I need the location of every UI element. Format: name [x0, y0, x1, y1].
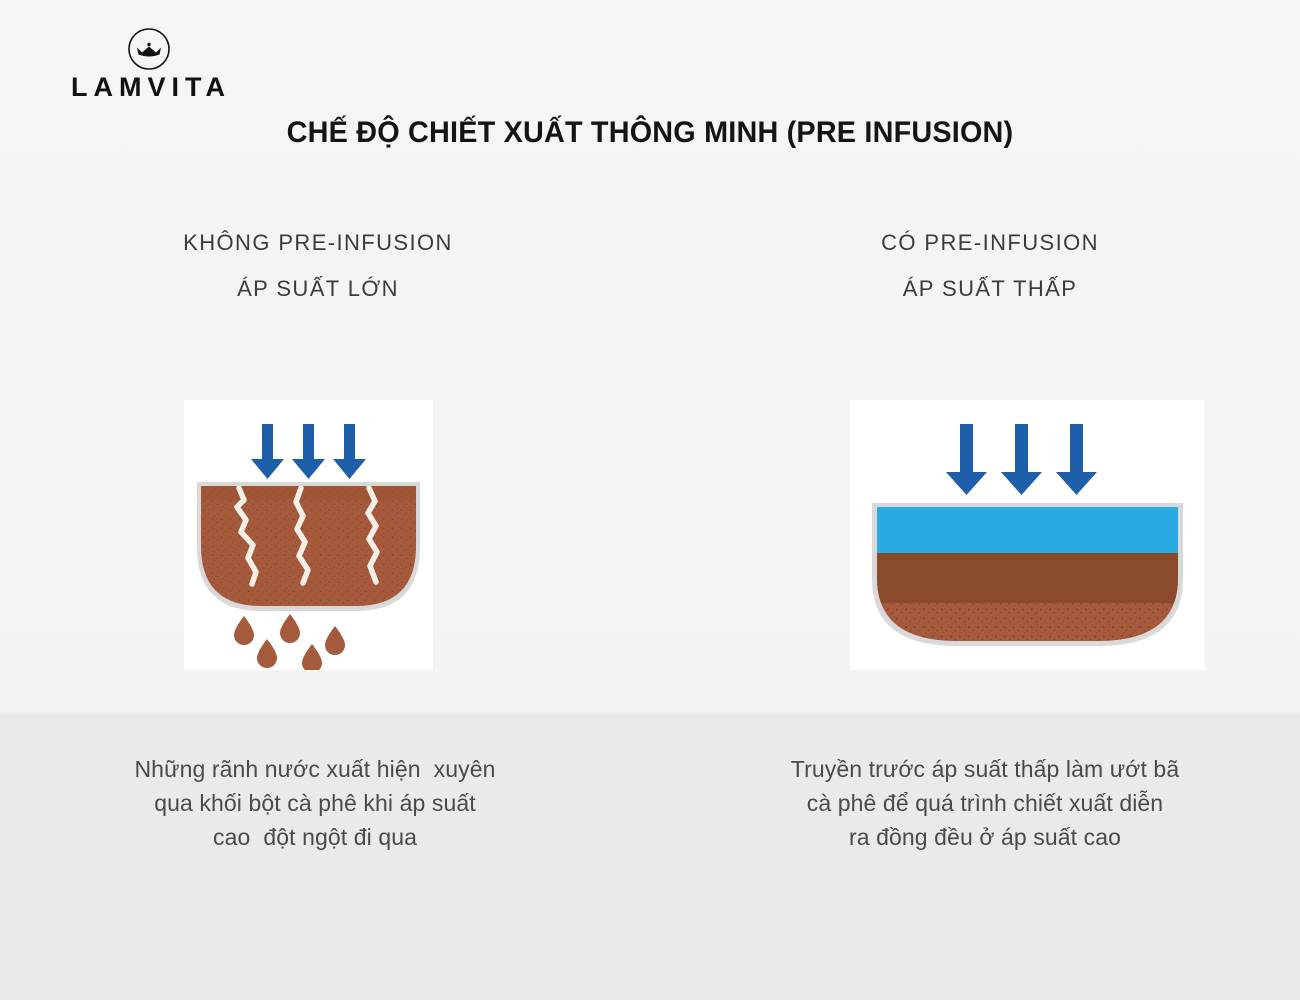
page-title: CHẾ ĐỘ CHIẾT XUẤT THÔNG MINH (PRE INFUSI…: [26, 116, 1274, 150]
caption-with-pre-infusion: Truyền trước áp suất thấp làm ướt bã cà …: [705, 752, 1265, 854]
caption-line2: cà phê để quá trình chiết xuất diễn: [705, 786, 1265, 820]
heading-no-pre-infusion: KHÔNG PRE-INFUSION ÁP SUẤT LỚN: [38, 232, 598, 300]
caption-no-pre-infusion: Những rãnh nước xuất hiện xuyên qua khối…: [35, 752, 595, 854]
caption-line2: qua khối bột cà phê khi áp suất: [35, 786, 595, 820]
column-with-pre-infusion: CÓ PRE-INFUSION ÁP SUẤT THẤP: [710, 232, 1270, 300]
coffee-bed: [201, 486, 416, 606]
crown-in-circle-icon: [126, 26, 172, 72]
heading-with-pre-infusion: CÓ PRE-INFUSION ÁP SUẤT THẤP: [710, 232, 1270, 300]
illustration-card-with-pre-infusion: [850, 400, 1205, 670]
water-layer: [877, 507, 1178, 553]
brand-logo: LAMVITA: [64, 26, 234, 101]
channeling-portafilter-illustration: [184, 400, 433, 670]
infographic-page: LAMVITA CHẾ ĐỘ CHIẾT XUẤT THÔNG MINH (PR…: [0, 0, 1300, 1000]
caption-line3: cao đột ngột đi qua: [35, 820, 595, 854]
heading-line2: ÁP SUẤT LỚN: [38, 278, 598, 300]
even-saturation-portafilter-illustration: [850, 400, 1205, 670]
down-arrow-icon: [946, 424, 1097, 495]
illustration-card-no-pre-infusion: [184, 400, 433, 670]
heading-line1: KHÔNG PRE-INFUSION: [183, 230, 453, 255]
down-arrow-icon: [251, 424, 366, 479]
coffee-drip-icon: [234, 614, 345, 670]
heading-line2: ÁP SUẤT THẤP: [710, 278, 1270, 300]
caption-line1: Truyền trước áp suất thấp làm ướt bã: [705, 752, 1265, 786]
brand-name: LAMVITA: [68, 74, 234, 101]
heading-line1: CÓ PRE-INFUSION: [881, 230, 1099, 255]
caption-line3: ra đồng đều ở áp suất cao: [705, 820, 1265, 854]
saturated-coffee-layer: [877, 553, 1178, 603]
caption-line1: Những rãnh nước xuất hiện xuyên: [35, 752, 595, 786]
column-no-pre-infusion: KHÔNG PRE-INFUSION ÁP SUẤT LỚN: [38, 232, 598, 300]
